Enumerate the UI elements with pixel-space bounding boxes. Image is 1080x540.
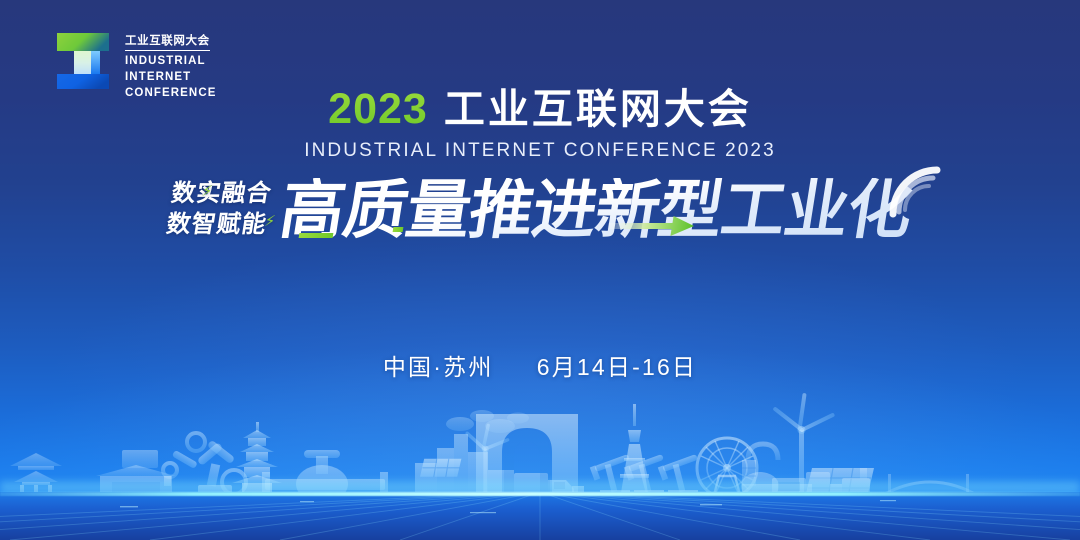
logo-en-line-1: INDUSTRIAL bbox=[125, 54, 217, 70]
headline-inner: 数实融合 ⚡ 数智赋能 ⚡ 高质量推进新型工业化 高质量推进新型工业化 bbox=[169, 178, 911, 242]
lightning-bolt-icon: ⚡ bbox=[200, 183, 214, 201]
green-accent-tick bbox=[299, 233, 334, 238]
headline-secondary-slogan: 数实融合 ⚡ 数智赋能 ⚡ bbox=[164, 180, 273, 239]
headline-main-wrap: 高质量推进新型工业化 高质量推进新型工业化 bbox=[281, 178, 911, 242]
main-title: 2023 工业互联网大会 bbox=[0, 88, 1080, 131]
wifi-signal-arcs-icon bbox=[885, 162, 945, 222]
title-chinese: 工业互联网大会 bbox=[444, 89, 752, 130]
lightning-bolt-icon: ⚡ bbox=[263, 214, 277, 232]
title-year: 2023 bbox=[328, 88, 428, 131]
conference-poster: 工业互联网大会 INDUSTRIAL INTERNET CONFERENCE 2… bbox=[0, 0, 1080, 540]
logo-en-line-2: INTERNET bbox=[125, 70, 217, 86]
horizon-line bbox=[0, 492, 1080, 496]
perspective-grid-floor bbox=[0, 492, 1080, 540]
green-right-arrow-icon bbox=[606, 216, 695, 236]
event-location: 中国·苏州 bbox=[383, 354, 494, 380]
industrial-internet-t-mark-icon bbox=[52, 28, 114, 94]
headline-slogan-line-2: 数智赋能 ⚡ bbox=[164, 212, 268, 240]
green-accent-tick bbox=[393, 227, 404, 232]
event-location-and-date: 中国·苏州 6月14日-16日 bbox=[0, 348, 1080, 382]
headline-main-slogan: 高质量推进新型工业化 bbox=[276, 178, 916, 242]
logo-chinese-name: 工业互联网大会 bbox=[125, 34, 210, 51]
headline-slogan-line-1: 数实融合 ⚡ bbox=[169, 180, 273, 208]
title-subtitle-english: INDUSTRIAL INTERNET CONFERENCE 2023 bbox=[0, 140, 1080, 162]
event-dates: 6月14日-16日 bbox=[537, 354, 697, 380]
headline-slogan: 数实融合 ⚡ 数智赋能 ⚡ 高质量推进新型工业化 高质量推进新型工业化 bbox=[0, 178, 1080, 242]
